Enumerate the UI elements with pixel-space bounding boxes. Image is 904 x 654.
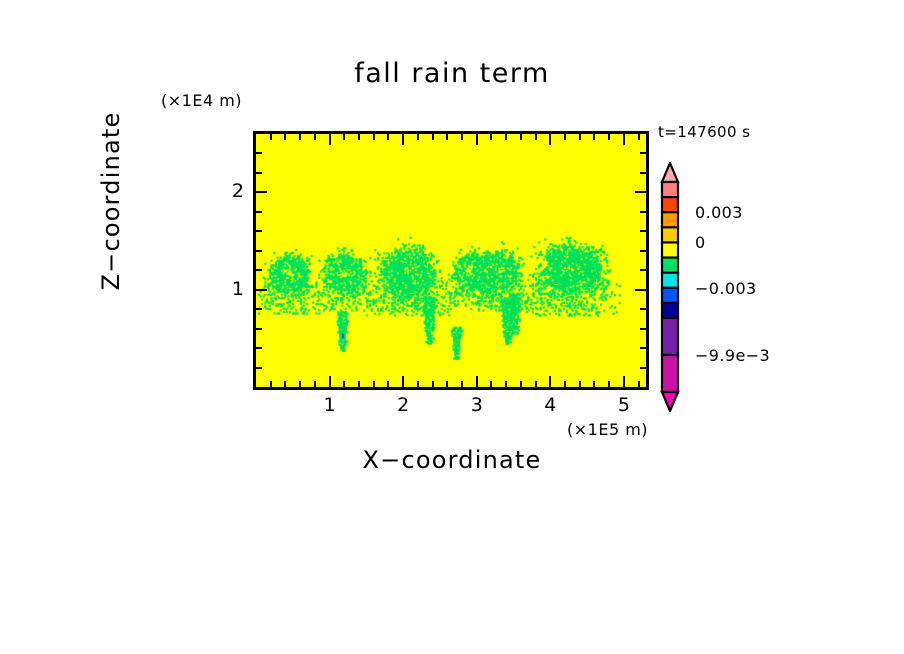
- colorbar-band: [662, 258, 678, 274]
- x-minor-tick-top: [270, 134, 272, 140]
- x-minor-tick-top: [461, 134, 463, 140]
- x-minor-tick: [343, 381, 345, 387]
- x-tick-label: 4: [538, 394, 562, 416]
- x-axis-title: X−coordinate: [0, 446, 904, 474]
- y-minor-tick-right: [640, 230, 646, 232]
- x-minor-tick-top: [490, 134, 492, 140]
- x-minor-tick-top: [638, 134, 640, 140]
- page-title: fall rain term: [0, 58, 904, 89]
- y-axis-unit-label: (×1E4 m): [161, 91, 242, 110]
- x-minor-tick: [270, 381, 272, 387]
- colorbar-band: [662, 273, 678, 289]
- x-minor-tick: [490, 381, 492, 387]
- x-minor-tick: [505, 381, 507, 387]
- colorbar-arrow-down: [662, 392, 678, 411]
- y-minor-tick: [256, 172, 262, 174]
- colorbar-band: [662, 227, 678, 243]
- x-minor-tick: [299, 381, 301, 387]
- x-minor-tick-top: [373, 134, 375, 140]
- y-minor-tick-right: [640, 172, 646, 174]
- y-minor-tick: [256, 152, 262, 154]
- y-minor-tick: [256, 230, 262, 232]
- x-minor-tick: [314, 381, 316, 387]
- x-tick-label: 5: [612, 394, 636, 416]
- x-minor-tick: [373, 381, 375, 387]
- x-major-tick: [329, 376, 331, 387]
- colorbar-band: [662, 242, 678, 258]
- y-tick-label: 2: [220, 180, 244, 202]
- x-minor-tick-top: [343, 134, 345, 140]
- y-minor-tick: [256, 328, 262, 330]
- y-minor-tick-right: [640, 269, 646, 271]
- x-tick-label: 3: [465, 394, 489, 416]
- x-minor-tick-top: [579, 134, 581, 140]
- x-minor-tick: [520, 381, 522, 387]
- y-minor-tick-right: [640, 152, 646, 154]
- x-minor-tick: [284, 381, 286, 387]
- x-axis-unit-label: (×1E5 m): [567, 420, 648, 439]
- y-minor-tick-right: [640, 308, 646, 310]
- colorbar-band: [662, 288, 678, 304]
- x-minor-tick-top: [505, 134, 507, 140]
- y-axis-title: Z−coordinate: [97, 76, 125, 326]
- x-minor-tick: [535, 381, 537, 387]
- x-minor-tick: [432, 381, 434, 387]
- y-minor-tick: [256, 211, 262, 213]
- x-major-tick: [549, 376, 551, 387]
- colorbar-band: [662, 212, 678, 228]
- x-tick-label: 2: [391, 394, 415, 416]
- colorbar-tick-label: −0.003: [695, 279, 757, 298]
- y-major-tick-right: [635, 191, 646, 193]
- x-minor-tick: [638, 381, 640, 387]
- x-minor-tick-top: [593, 134, 595, 140]
- x-minor-tick: [461, 381, 463, 387]
- y-minor-tick-right: [640, 211, 646, 213]
- x-minor-tick: [608, 381, 610, 387]
- x-minor-tick-top: [432, 134, 434, 140]
- x-minor-tick-top: [520, 134, 522, 140]
- x-minor-tick: [387, 381, 389, 387]
- x-major-tick-top: [402, 134, 404, 145]
- x-minor-tick: [593, 381, 595, 387]
- y-minor-tick: [256, 347, 262, 349]
- x-major-tick-top: [329, 134, 331, 145]
- x-minor-tick-top: [314, 134, 316, 140]
- x-major-tick: [402, 376, 404, 387]
- colorbar-band: [662, 355, 678, 392]
- x-minor-tick-top: [608, 134, 610, 140]
- time-annotation: t=147600 s: [658, 123, 750, 141]
- y-minor-tick-right: [640, 328, 646, 330]
- x-minor-tick-top: [417, 134, 419, 140]
- field-heatmap: [256, 134, 646, 387]
- colorbar-band: [662, 182, 678, 198]
- colorbar: [659, 162, 681, 412]
- x-minor-tick-top: [535, 134, 537, 140]
- colorbar-tick-label: 0.003: [695, 203, 743, 222]
- y-minor-tick: [256, 250, 262, 252]
- x-tick-label: 1: [318, 394, 342, 416]
- y-minor-tick-right: [640, 367, 646, 369]
- x-major-tick: [623, 376, 625, 387]
- figure-canvas: fall rain term (×1E4 m) (×1E5 m) t=14760…: [0, 0, 904, 654]
- colorbar-band: [662, 197, 678, 213]
- colorbar-arrow-up: [662, 163, 678, 182]
- x-major-tick: [476, 376, 478, 387]
- y-minor-tick-right: [640, 250, 646, 252]
- y-major-tick: [256, 191, 267, 193]
- colorbar-band: [662, 318, 678, 355]
- x-minor-tick-top: [299, 134, 301, 140]
- y-minor-tick: [256, 308, 262, 310]
- y-major-tick: [256, 289, 267, 291]
- y-minor-tick: [256, 367, 262, 369]
- x-major-tick-top: [476, 134, 478, 145]
- x-minor-tick-top: [564, 134, 566, 140]
- plot-area: [253, 131, 649, 390]
- colorbar-tick-label: 0: [695, 233, 706, 252]
- x-minor-tick: [417, 381, 419, 387]
- x-minor-tick: [579, 381, 581, 387]
- x-minor-tick-top: [387, 134, 389, 140]
- y-minor-tick-right: [640, 347, 646, 349]
- y-major-tick-right: [635, 289, 646, 291]
- y-tick-label: 1: [220, 278, 244, 300]
- x-minor-tick: [564, 381, 566, 387]
- x-major-tick-top: [623, 134, 625, 145]
- x-major-tick-top: [549, 134, 551, 145]
- colorbar-band: [662, 303, 678, 319]
- x-minor-tick-top: [358, 134, 360, 140]
- x-minor-tick-top: [284, 134, 286, 140]
- x-minor-tick-top: [446, 134, 448, 140]
- colorbar-tick-label: −9.9e−3: [695, 346, 770, 365]
- x-minor-tick: [358, 381, 360, 387]
- y-minor-tick: [256, 269, 262, 271]
- x-minor-tick: [446, 381, 448, 387]
